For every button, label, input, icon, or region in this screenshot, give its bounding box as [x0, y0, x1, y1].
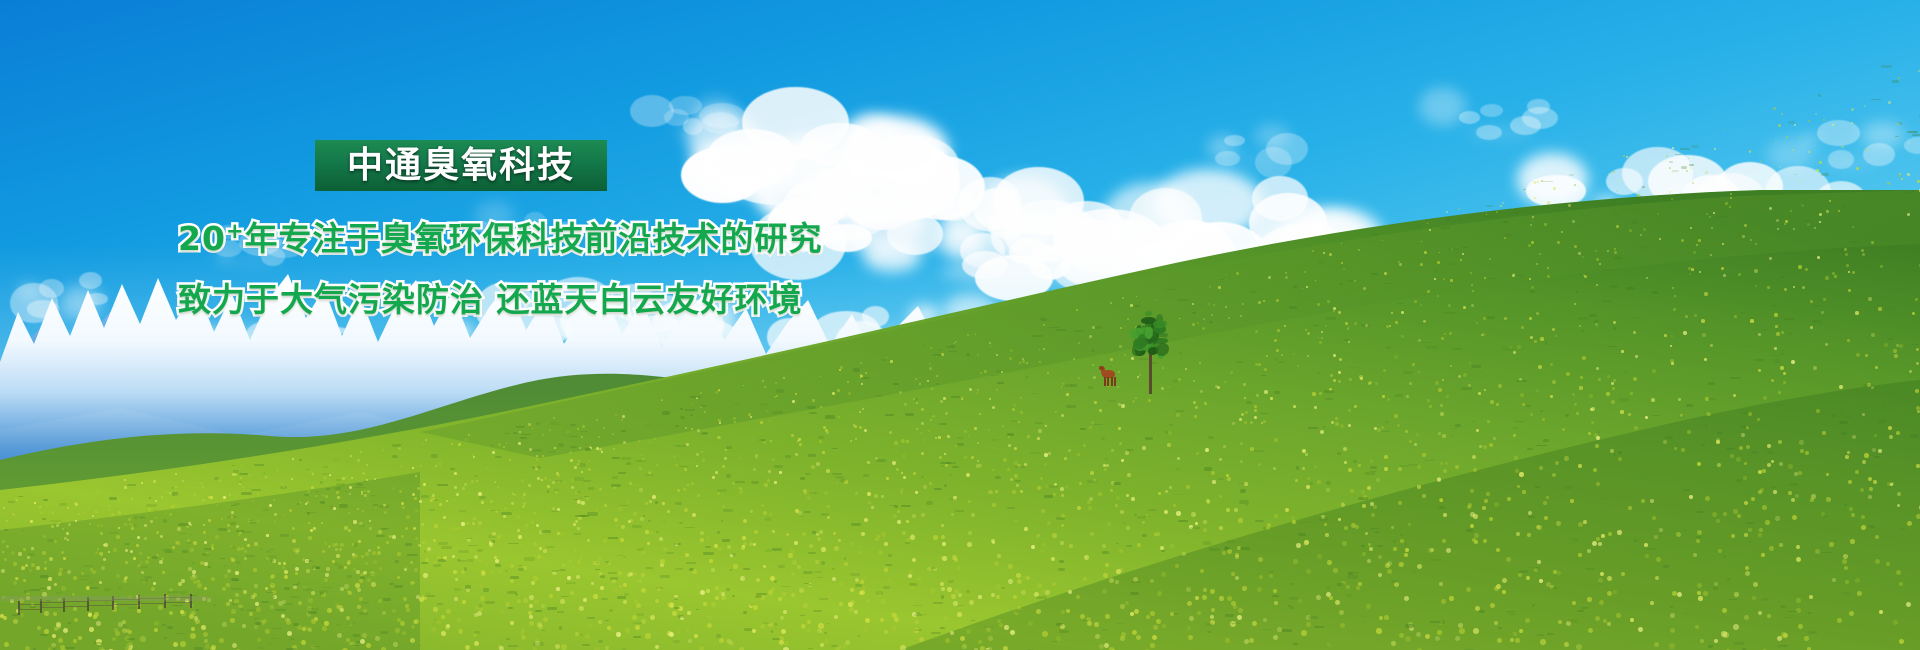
subtitle-2-rest: 致力于大气污染防治 还蓝天白云友好环境 — [178, 280, 803, 319]
subtitle-1-rest: 年专注于臭氧环保科技前沿技术的研究 — [245, 219, 823, 258]
company-title: 中通臭氧科技 — [347, 148, 575, 184]
company-title-banner[interactable]: 中通臭氧科技 — [315, 140, 607, 191]
horse-head — [1099, 366, 1104, 370]
hero-subtitle-line-1: 20+年专注于臭氧环保科技前沿技术的研究 — [178, 212, 823, 260]
lone-tree — [1118, 312, 1182, 394]
hero-banner: 中通臭氧科技 20+年专注于臭氧环保科技前沿技术的研究 致力于大气污染防治 还蓝… — [0, 0, 1920, 650]
tree-trunk — [1149, 352, 1152, 394]
hero-subtitle-line-2: 致力于大气污染防治 还蓝天白云友好环境 — [178, 273, 803, 321]
horse-leg — [1104, 377, 1106, 386]
horse-leg — [1107, 377, 1109, 386]
subtitle-1-prefix: 20 — [178, 219, 226, 258]
grazing-horse — [1098, 366, 1120, 390]
subtitle-1-superscript: + — [226, 219, 245, 243]
horse-leg — [1114, 377, 1116, 386]
horse-leg — [1111, 377, 1113, 386]
